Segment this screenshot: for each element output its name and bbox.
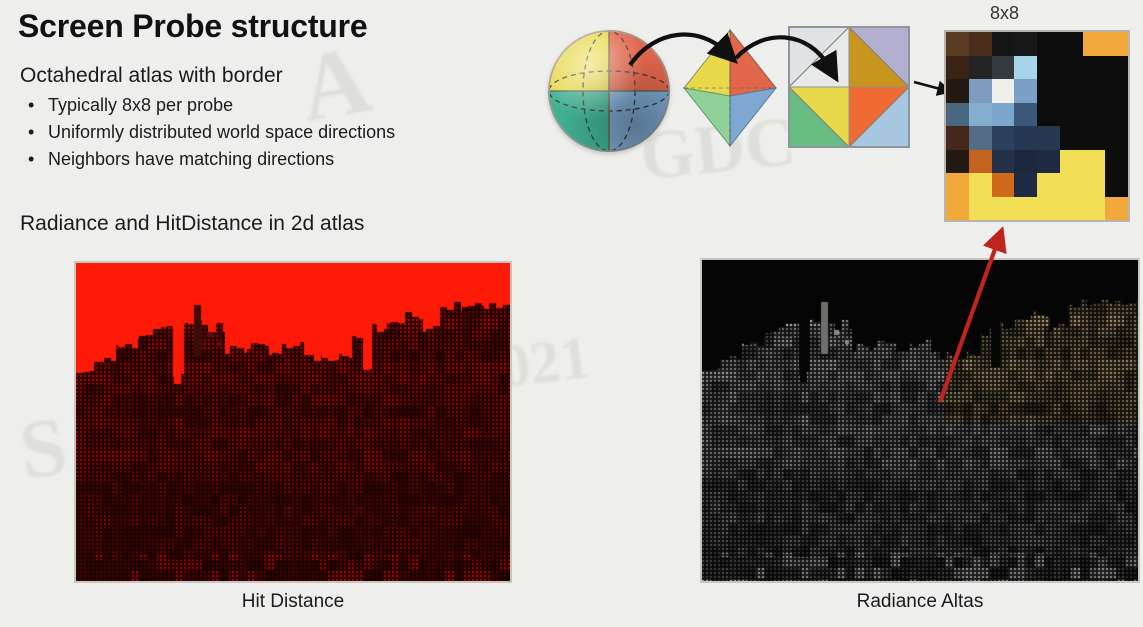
- probe-texel: [992, 126, 1015, 150]
- probe-texel: [946, 56, 969, 80]
- probe-texel: [1037, 79, 1060, 103]
- probe-texel: [1105, 56, 1128, 80]
- probe-texel: [1014, 56, 1037, 80]
- list-item-label: Uniformly distributed world space direct…: [48, 122, 395, 142]
- watermark-3: S: [13, 397, 73, 500]
- probe-texel: [1060, 173, 1083, 197]
- probe-texel: [992, 103, 1015, 127]
- probe-texel: [946, 32, 969, 56]
- probe-texel: [969, 126, 992, 150]
- probe-texel: [1105, 150, 1128, 174]
- probe-texel: [969, 56, 992, 80]
- probe-texel: [969, 197, 992, 221]
- probe-texel: [1083, 103, 1106, 127]
- hit-distance-image: [74, 261, 512, 583]
- probe-texel: [1037, 32, 1060, 56]
- probe-texel: [946, 197, 969, 221]
- probe-texel: [946, 126, 969, 150]
- bullet-dot-icon: •: [28, 119, 34, 146]
- probe-texture-8x8: [944, 30, 1130, 222]
- probe-texel: [946, 79, 969, 103]
- probe-texel: [1105, 173, 1128, 197]
- slide-title: Screen Probe structure: [18, 8, 368, 45]
- probe-texel: [1083, 150, 1106, 174]
- probe-texel: [969, 150, 992, 174]
- radiance-atlas-image: [700, 258, 1140, 583]
- probe-texel: [1014, 32, 1037, 56]
- probe-texel: [1060, 32, 1083, 56]
- probe-texel: [1014, 150, 1037, 174]
- probe-texel: [1060, 197, 1083, 221]
- probe-texel: [1105, 126, 1128, 150]
- second-heading: Radiance and HitDistance in 2d atlas: [20, 212, 364, 236]
- bullet-dot-icon: •: [28, 146, 34, 173]
- radiance-atlas-caption: Radiance Altas: [700, 591, 1140, 613]
- hit-distance-caption: Hit Distance: [74, 591, 512, 613]
- probe-texel: [1105, 197, 1128, 221]
- sphere-illustration: [548, 30, 670, 152]
- probe-texel: [1060, 150, 1083, 174]
- list-item: • Typically 8x8 per probe: [20, 92, 395, 119]
- probe-texel: [969, 32, 992, 56]
- atlas-faces: [789, 27, 909, 147]
- probe-texel: [1105, 79, 1128, 103]
- bullet-list: • Typically 8x8 per probe • Uniformly di…: [20, 92, 395, 173]
- probe-texel: [1083, 126, 1106, 150]
- probe-texel: [1037, 126, 1060, 150]
- subheading: Octahedral atlas with border: [20, 64, 283, 88]
- probe-texel: [992, 197, 1015, 221]
- slide-root: A GDC S 2021 Screen Probe structure Octa…: [0, 0, 1143, 627]
- probe-texel: [1037, 103, 1060, 127]
- bullet-dot-icon: •: [28, 92, 34, 119]
- probe-texture-label: 8x8: [990, 3, 1019, 24]
- probe-texel: [1060, 79, 1083, 103]
- probe-texel: [1083, 79, 1106, 103]
- probe-texel: [969, 79, 992, 103]
- probe-texel: [1060, 103, 1083, 127]
- probe-texel: [946, 103, 969, 127]
- list-item-label: Typically 8x8 per probe: [48, 95, 233, 115]
- probe-texel: [1037, 197, 1060, 221]
- probe-texel: [1083, 32, 1106, 56]
- probe-texel: [969, 103, 992, 127]
- probe-texel: [1014, 173, 1037, 197]
- list-item: • Neighbors have matching directions: [20, 146, 395, 173]
- probe-texel: [992, 150, 1015, 174]
- probe-texel: [1105, 32, 1128, 56]
- radiance-atlas-figure: Radiance Altas: [700, 258, 1140, 583]
- probe-texel: [1014, 103, 1037, 127]
- octahedron-illustration: [678, 26, 782, 150]
- probe-texel: [946, 150, 969, 174]
- probe-texel: [1083, 56, 1106, 80]
- probe-texel: [946, 173, 969, 197]
- probe-texel: [1037, 150, 1060, 174]
- list-item: • Uniformly distributed world space dire…: [20, 119, 395, 146]
- probe-texel: [1014, 126, 1037, 150]
- probe-texel: [1060, 126, 1083, 150]
- probe-texel: [992, 32, 1015, 56]
- hit-distance-figure: Hit Distance: [74, 261, 512, 583]
- probe-texel: [1037, 173, 1060, 197]
- sphere-shading: [548, 30, 670, 152]
- probe-texel: [1083, 197, 1106, 221]
- probe-texel: [992, 56, 1015, 80]
- probe-texel: [1105, 103, 1128, 127]
- probe-texel: [992, 79, 1015, 103]
- octahedral-mapping-diagram: [540, 10, 950, 160]
- probe-texel: [1083, 173, 1106, 197]
- unfolded-octahedral-atlas: [788, 26, 910, 148]
- probe-texel: [1037, 56, 1060, 80]
- probe-texel: [1014, 197, 1037, 221]
- probe-texel: [1060, 56, 1083, 80]
- probe-texel: [969, 173, 992, 197]
- list-item-label: Neighbors have matching directions: [48, 149, 334, 169]
- hit-distance-canvas: [76, 263, 512, 583]
- radiance-atlas-canvas: [702, 260, 1140, 583]
- probe-texel: [992, 173, 1015, 197]
- probe-texel: [1014, 79, 1037, 103]
